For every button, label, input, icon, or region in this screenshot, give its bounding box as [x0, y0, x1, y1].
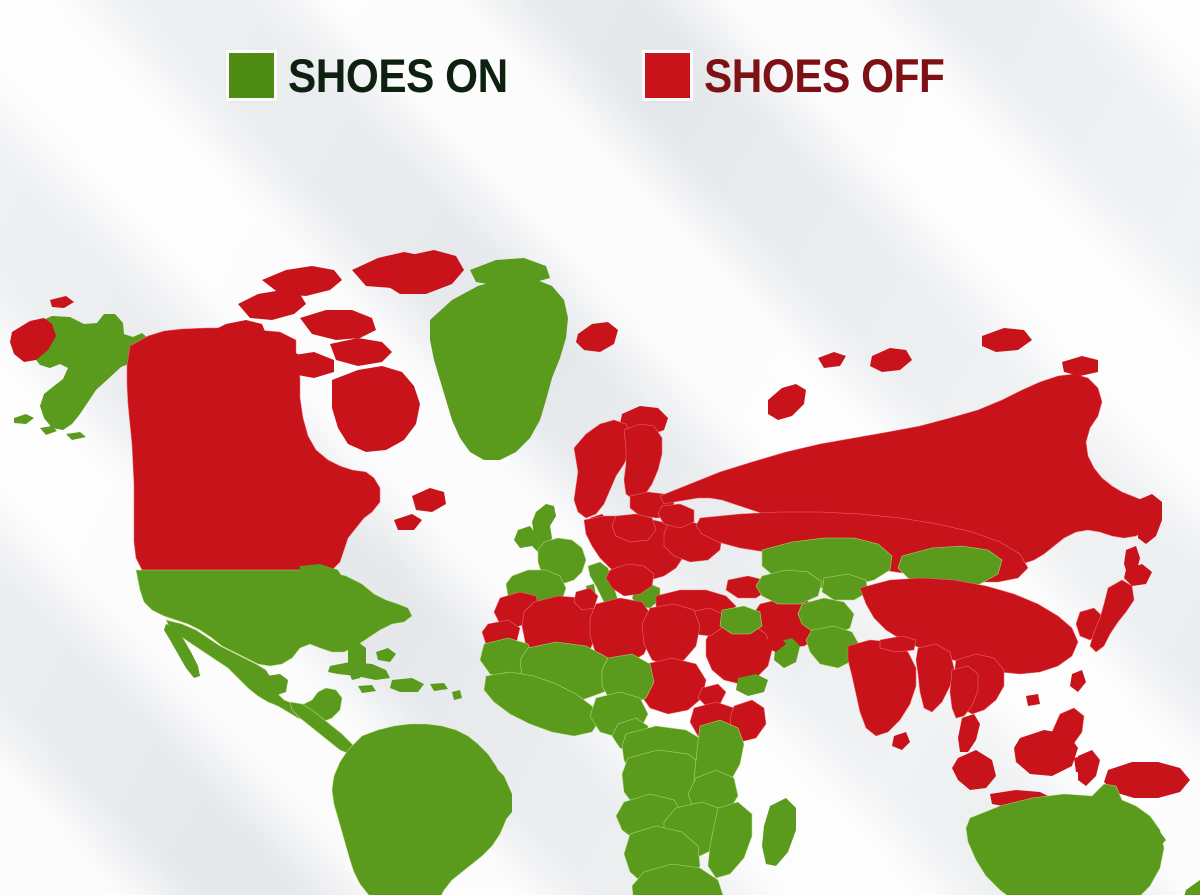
legend-item-shoes-off: SHOES OFF	[645, 52, 971, 99]
region-kamchatka	[1138, 494, 1162, 544]
island-hispaniola	[390, 678, 424, 692]
infographic-canvas: SHOES ON SHOES OFF	[0, 0, 1200, 895]
region-new-siberian-islands	[1062, 356, 1098, 376]
country-uzbekistan-turkmenistan	[756, 570, 822, 604]
country-nepal-bhutan	[880, 636, 916, 652]
country-new-zealand-north	[1182, 880, 1200, 895]
region-severnaya-zemlya	[870, 348, 912, 372]
country-bangladesh-myanmar	[916, 644, 954, 712]
region-canada-arctic-4	[300, 310, 376, 340]
country-greenland	[430, 278, 568, 460]
country-india	[848, 640, 916, 736]
region-baffin-island	[332, 366, 420, 452]
region-canada-arctic-5	[330, 338, 392, 366]
region-franz-josef	[818, 352, 846, 368]
legend-label-shoes-on: SHOES ON	[288, 52, 508, 99]
country-iraq	[720, 606, 762, 634]
country-canada	[127, 328, 380, 574]
country-finland	[624, 424, 662, 500]
island-borneo	[1014, 730, 1078, 776]
island-aleutian-1	[14, 414, 34, 424]
island-hainan	[1026, 694, 1040, 706]
region-newfoundland	[412, 488, 446, 512]
island-bahamas	[376, 648, 396, 662]
island-wrangel	[50, 296, 74, 308]
world-map-svg	[0, 118, 1200, 895]
country-egypt	[642, 604, 700, 666]
island-svalbard	[576, 322, 618, 352]
region-malay-peninsula	[958, 714, 980, 752]
region-arctic-islands-ru	[982, 328, 1032, 352]
legend-swatch-red-icon	[645, 53, 690, 98]
map-legend: SHOES ON SHOES OFF	[0, 44, 1200, 106]
island-sri-lanka	[892, 732, 910, 750]
island-jamaica	[358, 685, 376, 693]
world-map	[0, 118, 1200, 895]
legend-item-shoes-on: SHOES ON	[229, 52, 532, 99]
island-puerto-rico	[430, 683, 448, 691]
island-aleutian-3	[66, 432, 86, 440]
island-madagascar	[762, 798, 796, 866]
island-taiwan	[1070, 670, 1086, 692]
island-sumatra	[952, 750, 996, 790]
region-nova-scotia	[394, 514, 422, 530]
region-scandinavia	[574, 420, 632, 518]
island-sulawesi	[1078, 750, 1100, 786]
legend-label-shoes-off: SHOES OFF	[704, 52, 944, 99]
region-novaya-zemlya	[768, 384, 806, 420]
legend-swatch-green-icon	[229, 53, 274, 98]
island-lesser-antilles	[452, 690, 462, 700]
